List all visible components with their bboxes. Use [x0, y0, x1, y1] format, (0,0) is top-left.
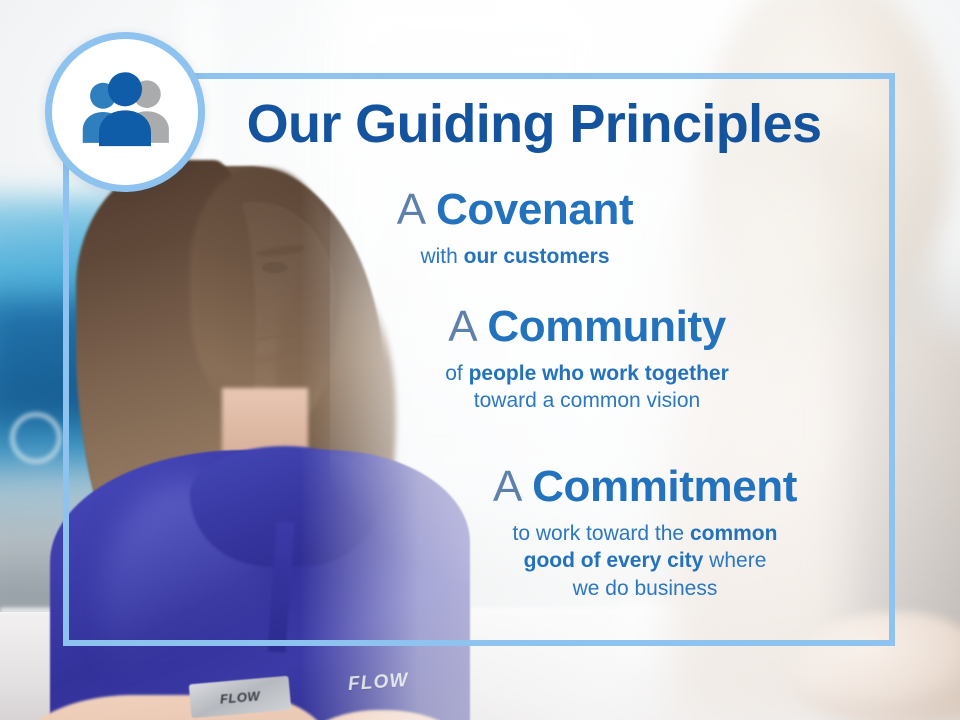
- principle-covenant: A Covenant with our customers: [300, 186, 730, 270]
- principle-subtext-line: of people who work together: [352, 360, 822, 388]
- subtext-run: we do business: [573, 577, 718, 600]
- principle-subtext-line: with our customers: [300, 243, 730, 271]
- principle-article: A: [448, 302, 475, 351]
- principle-heading: A Commitment: [420, 463, 870, 511]
- principle-subtext-line: good of every city where: [420, 547, 870, 575]
- subtext-emphasis: common: [690, 522, 778, 545]
- subtext-run: with: [420, 245, 463, 268]
- people-group-icon: [73, 69, 177, 155]
- subtext-run: to work toward the: [513, 522, 690, 545]
- subtext-emphasis: people who work together: [469, 362, 729, 385]
- subtext-run: of: [445, 362, 468, 385]
- principle-word: Community: [487, 302, 725, 351]
- principle-subtext: to work toward the commongood of every c…: [420, 520, 870, 603]
- principle-commitment: A Commitment to work toward the commongo…: [420, 463, 870, 603]
- subtext-emphasis: our customers: [464, 245, 610, 268]
- subtext-run: toward a common vision: [474, 389, 700, 412]
- principle-subtext: of people who work togethertoward a comm…: [352, 360, 822, 415]
- subtext-emphasis: good of every city: [524, 549, 704, 572]
- principle-heading: A Community: [352, 303, 822, 351]
- name-badge-text: FLOW: [219, 688, 260, 706]
- principle-word: Commitment: [532, 462, 797, 511]
- principle-article: A: [493, 462, 520, 511]
- subtext-run: where: [703, 549, 766, 572]
- page-title: Our Guiding Principles: [214, 96, 854, 152]
- principle-word: Covenant: [436, 185, 633, 234]
- principle-subtext-line: we do business: [420, 575, 870, 603]
- principle-subtext: with our customers: [300, 243, 730, 271]
- principle-article: A: [397, 185, 424, 234]
- people-badge: [45, 32, 205, 192]
- principle-subtext-line: to work toward the common: [420, 520, 870, 548]
- principle-community: A Community of people who work togethert…: [352, 303, 822, 415]
- principle-heading: A Covenant: [300, 186, 730, 234]
- guiding-principles-banner: FLOW FLOW Our Guiding Principles A Coven…: [0, 0, 960, 720]
- principle-subtext-line: toward a common vision: [352, 387, 822, 415]
